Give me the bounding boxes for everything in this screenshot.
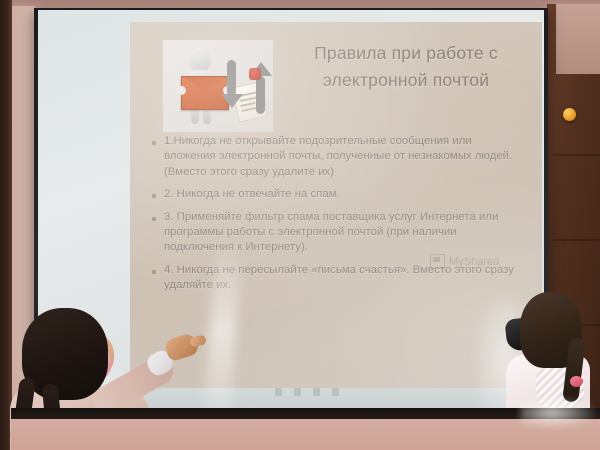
wall-lower	[11, 416, 600, 450]
arrow-down-icon	[227, 60, 236, 96]
slide-bullet-list: 1.Никогда не открывайте подозрительные с…	[152, 134, 524, 301]
whiteboard-control-button-2[interactable]	[294, 388, 301, 396]
list-item: 3. Применяйте фильтр спама поставщика ус…	[152, 210, 524, 256]
slide-title-line-2: электронной почтой	[282, 67, 530, 94]
bullet-text: 2. Никогда не отвечайте на спам.	[164, 187, 340, 202]
list-item: 1.Никогда не открывайте подозрительные с…	[152, 134, 524, 180]
slide-title: Правила при работе с электронной почтой	[282, 40, 530, 94]
classroom-photo: Правила при работе с электронной почтой …	[0, 0, 600, 450]
whiteboard-control-button-4[interactable]	[332, 388, 339, 396]
bullet-text: 3. Применяйте фильтр спама поставщика ус…	[164, 210, 524, 256]
bullet-dot-icon	[152, 270, 156, 274]
figure-head-icon	[189, 48, 211, 72]
bullet-dot-icon	[152, 217, 156, 221]
cabinet-seam	[553, 154, 600, 156]
arrow-up-icon	[256, 76, 265, 114]
slide-title-line-1: Правила при работе с	[282, 40, 530, 67]
edge-glare	[520, 396, 600, 430]
list-item: 2. Никогда не отвечайте на спам.	[152, 187, 524, 202]
arrow-down-head-icon	[221, 94, 243, 108]
watermark-text: MyShared	[449, 256, 499, 268]
wall-right-upper	[556, 4, 600, 74]
bullet-dot-icon	[152, 141, 156, 145]
cabinet-seam	[553, 239, 600, 241]
figure-hand-icon	[177, 86, 186, 95]
student-right-hair-tie	[570, 376, 583, 387]
slide-illustration	[163, 40, 273, 132]
whiteboard-control-button-3[interactable]	[313, 388, 320, 396]
whiteboard-control-button-1[interactable]	[275, 388, 282, 396]
cabinet-knob-icon[interactable]	[563, 108, 576, 121]
whiteboard-controls[interactable]	[275, 388, 339, 396]
myshared-logo-icon	[430, 254, 445, 269]
myshared-watermark: MyShared	[430, 254, 499, 269]
bullet-dot-icon	[152, 194, 156, 198]
whiteboard-bottom-edge	[11, 408, 600, 419]
bullet-text: 1.Никогда не открывайте подозрительные с…	[164, 134, 524, 180]
stamp-icon	[249, 68, 261, 80]
